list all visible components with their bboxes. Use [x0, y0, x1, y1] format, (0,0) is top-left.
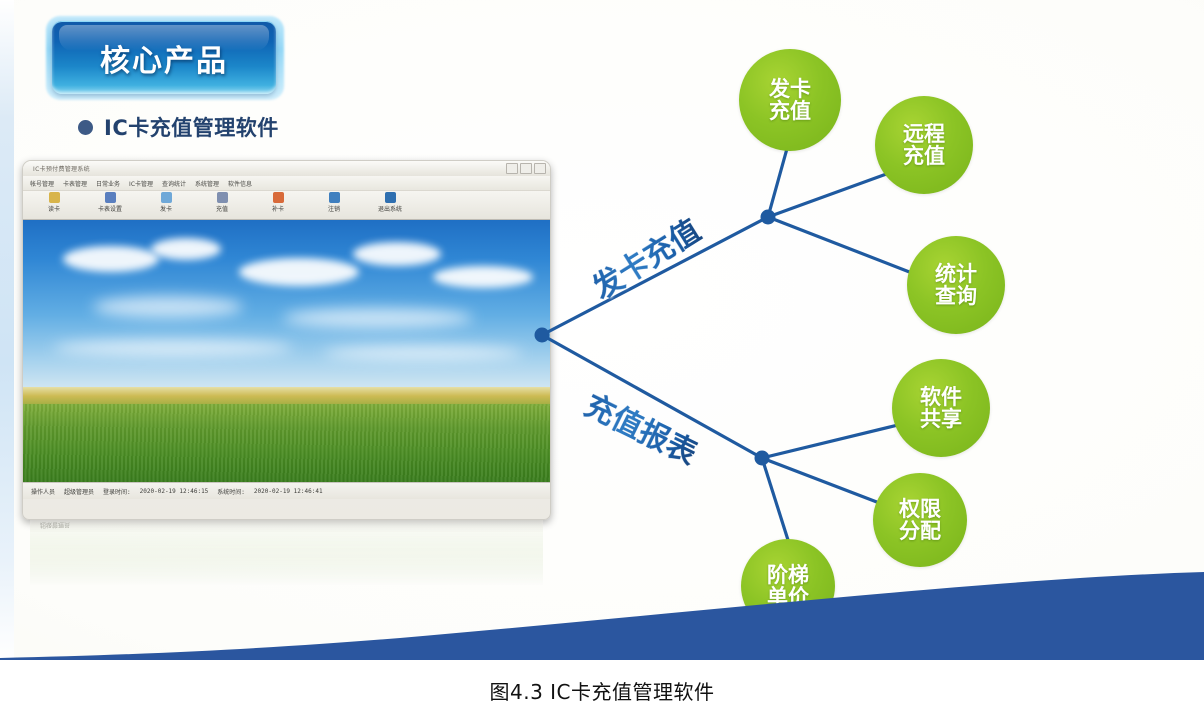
app-window-group: IC卡预付费管理系统 帐号管理 卡表管理 日常业务 IC卡管理 查询统计 系统管…: [22, 160, 549, 518]
line-lower-to-ruanjian: [762, 425, 898, 458]
tool-button-0[interactable]: 读卡: [31, 191, 77, 213]
tool-button-1[interactable]: 卡表设置: [87, 191, 133, 213]
line-upper-to-tongji: [768, 217, 912, 273]
logout-icon: [329, 192, 340, 203]
tool-bar[interactable]: 读卡卡表设置发卡充值补卡注销退出系统: [23, 191, 550, 220]
app-window[interactable]: IC卡预付费管理系统 帐号管理 卡表管理 日常业务 IC卡管理 查询统计 系统管…: [22, 160, 551, 520]
cloud-icon: [239, 258, 359, 286]
cloud-icon: [283, 308, 473, 328]
tool-button-label: 注销: [328, 204, 340, 213]
cloud-icon: [151, 238, 221, 260]
tool-button-label: 发卡: [160, 204, 172, 213]
tree-node-quanxianfenpei[interactable]: 权限分配: [873, 473, 967, 567]
menu-item-2[interactable]: 日常业务: [96, 179, 120, 188]
app-background-photo: 操作人员 超级管理员 登录时间: 2020-02-19 12:46:15 系统时…: [23, 220, 550, 499]
line-lower-to-quanxian: [762, 458, 882, 504]
upper-junction-dot: [761, 210, 776, 225]
menu-bar[interactable]: 帐号管理 卡表管理 日常业务 IC卡管理 查询统计 系统管理 软件信息: [23, 176, 550, 191]
tool-button-5[interactable]: 注销: [311, 191, 357, 213]
cloud-icon: [63, 246, 159, 272]
status-login-label: 登录时间:: [103, 487, 131, 496]
tree-node-label: 阶梯: [767, 564, 809, 586]
tree-connector-lines: [500, 20, 1204, 660]
cloud-icon: [53, 340, 293, 356]
banner-plate: 核心产品: [52, 21, 276, 94]
tree-node-label: 软件: [920, 386, 962, 408]
tree-node-tongjichaxun[interactable]: 统计查询: [907, 236, 1005, 334]
menu-item-4[interactable]: 查询统计: [162, 179, 186, 188]
status-system-value: 2020-02-19 12:46:41: [254, 488, 323, 495]
menu-item-3[interactable]: IC卡管理: [129, 179, 153, 188]
product-tree-diagram: 发卡充值远程充值统计查询软件共享权限分配阶梯单价 发卡充值充值报表: [500, 20, 1204, 660]
window-title-text: IC卡预付费管理系统: [33, 164, 90, 173]
status-operator-label: 操作人员: [31, 487, 55, 496]
tool-button-label: 补卡: [272, 204, 284, 213]
cloud-icon: [323, 346, 523, 360]
menu-item-5[interactable]: 系统管理: [195, 179, 219, 188]
tool-button-label: 退出系统: [378, 204, 402, 213]
tree-node-yuanchengchongzhi[interactable]: 远程充值: [875, 96, 973, 194]
menu-item-1[interactable]: 卡表管理: [63, 179, 87, 188]
root-junction-dot: [535, 328, 550, 343]
tree-node-label: 分配: [899, 520, 941, 542]
left-edge-decoration: [0, 0, 14, 660]
tree-node-jietidanjia[interactable]: 阶梯单价: [741, 539, 835, 633]
tree-node-ruanjiangongxiang[interactable]: 软件共享: [892, 359, 990, 457]
status-operator-value: 超级管理员: [64, 487, 94, 496]
figure-caption: 图4.3 IC卡充值管理软件: [0, 676, 1204, 705]
cloud-icon: [353, 242, 441, 266]
bullet-dot-icon: [78, 120, 93, 135]
tree-node-label: 统计: [935, 263, 977, 285]
tool-button-6[interactable]: 退出系统: [367, 191, 413, 213]
info-exit-icon: [385, 192, 396, 203]
tree-node-label: 权限: [899, 498, 941, 520]
tool-button-label: 读卡: [48, 204, 60, 213]
card-replace-icon: [273, 192, 284, 203]
magnifier-icon: [49, 192, 60, 203]
tree-node-label: 充值: [903, 145, 945, 167]
recharge-icon: [217, 192, 228, 203]
tree-node-label: 发卡: [769, 78, 811, 100]
line-upper-to-yuancheng: [768, 172, 892, 217]
tool-button-4[interactable]: 补卡: [255, 191, 301, 213]
tool-button-2[interactable]: 发卡: [143, 191, 189, 213]
menu-item-0[interactable]: 帐号管理: [30, 179, 54, 188]
tool-button-label: 充值: [216, 204, 228, 213]
settings-icon: [105, 192, 116, 203]
status-login-value: 2020-02-19 12:46:15: [140, 488, 209, 495]
line-upper-to-fakachongzhi: [768, 145, 788, 217]
bullet-row: IC卡充值管理软件: [78, 112, 279, 142]
tree-node-label: 充值: [769, 100, 811, 122]
lower-junction-dot: [755, 451, 770, 466]
tree-node-label: 共享: [920, 408, 962, 430]
window-title-bar[interactable]: IC卡预付费管理系统: [23, 161, 550, 176]
tool-button-label: 卡表设置: [98, 204, 122, 213]
window-reflection: [30, 520, 543, 586]
title-banner: 核心产品: [46, 16, 284, 100]
menu-item-6[interactable]: 软件信息: [228, 179, 252, 188]
slide-canvas: 核心产品 IC卡充值管理软件 IC卡预付费管理系统 帐号管理 卡表管理 日常业务…: [0, 0, 1204, 660]
cloud-icon: [93, 296, 243, 318]
tree-node-fakachongzhi[interactable]: 发卡充值: [739, 49, 841, 151]
banner-title-text: 核心产品: [100, 36, 228, 80]
tool-button-3[interactable]: 充值: [199, 191, 245, 213]
tree-node-label: 远程: [903, 123, 945, 145]
card-out-icon: [161, 192, 172, 203]
status-bar: 操作人员 超级管理员 登录时间: 2020-02-19 12:46:15 系统时…: [23, 482, 550, 499]
tree-node-label: 单价: [767, 586, 809, 608]
bullet-label: IC卡充值管理软件: [104, 112, 279, 142]
tree-node-label: 查询: [935, 285, 977, 307]
status-system-label: 系统时间:: [217, 487, 245, 496]
line-lower-to-jieti: [762, 458, 788, 540]
